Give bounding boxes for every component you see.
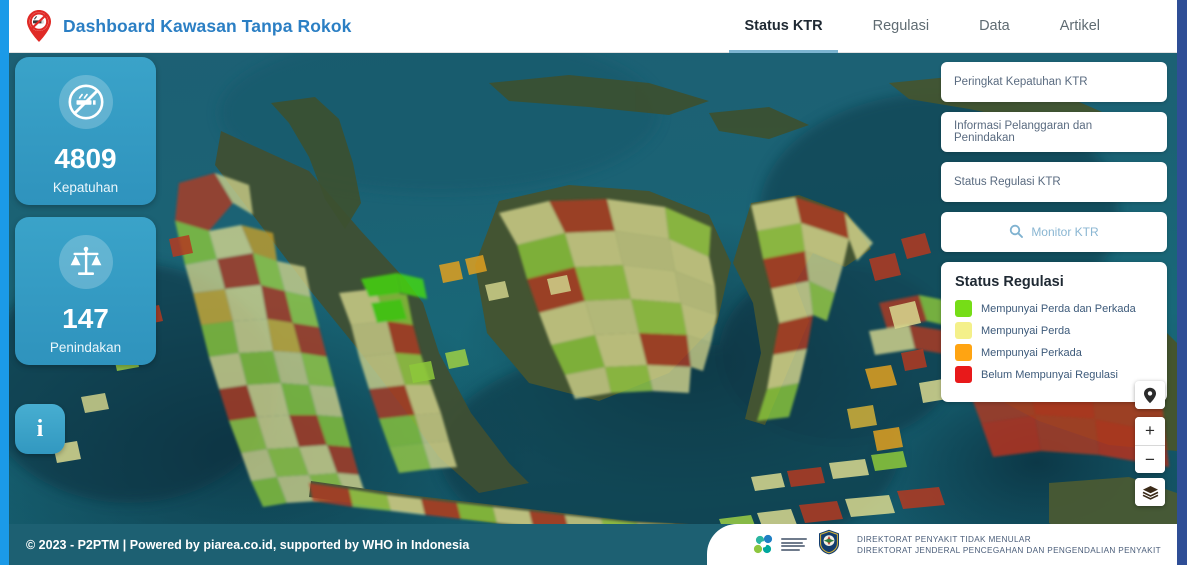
stat-card-kepatuhan[interactable]: 4809 Kepatuhan xyxy=(15,57,156,205)
zoom-in-button[interactable]: + xyxy=(1135,417,1165,445)
no-smoking-icon xyxy=(59,75,113,129)
legend-label: Mempunyai Perda xyxy=(981,325,1070,337)
zoom-box: + − xyxy=(1135,417,1165,473)
layers-icon xyxy=(1142,485,1159,500)
legend-item-perkada: Mempunyai Perkada xyxy=(955,344,1153,361)
garuda-emblem-logo xyxy=(818,529,840,560)
legend-item-perda: Mempunyai Perda xyxy=(955,322,1153,339)
locate-button[interactable] xyxy=(1135,381,1165,409)
main-nav: Status KTR Regulasi Data Artikel xyxy=(719,0,1177,53)
footer-copyright: © 2023 - P2PTM | Powered by piarea.co.id… xyxy=(9,538,469,552)
location-pin-icon xyxy=(1143,387,1157,404)
stat-card-penindakan[interactable]: 147 Penindakan xyxy=(15,217,156,365)
legend-item-belum-regulasi: Belum Mempunyai Regulasi xyxy=(955,366,1153,383)
app-footer: © 2023 - P2PTM | Powered by piarea.co.id… xyxy=(9,524,1177,565)
tab-data[interactable]: Data xyxy=(954,0,1035,53)
legend-item-perda-dan-perkada: Mempunyai Perda dan Perkada xyxy=(955,300,1153,317)
kemenkes-wordmark xyxy=(781,538,807,551)
panel-button-label: Status Regulasi KTR xyxy=(954,176,1061,188)
legend-swatch-yellow xyxy=(955,322,972,339)
panel-button-peringkat-kepatuhan[interactable]: Peringkat Kepatuhan KTR xyxy=(941,62,1167,102)
tab-status-ktr[interactable]: Status KTR xyxy=(719,0,847,53)
info-button[interactable]: i xyxy=(15,404,65,454)
stat-cards: 4809 Kepatuhan 147 Penindakan xyxy=(15,57,156,377)
tab-artikel[interactable]: Artikel xyxy=(1035,0,1125,53)
legend-status-regulasi: Status Regulasi Mempunyai Perda dan Perk… xyxy=(941,262,1167,402)
layers-box xyxy=(1135,478,1165,506)
no-smoking-map-pin-icon xyxy=(25,9,53,43)
panel-button-status-regulasi[interactable]: Status Regulasi KTR xyxy=(941,162,1167,202)
legend-swatch-orange xyxy=(955,344,972,361)
stat-value-penindakan: 147 xyxy=(62,305,109,333)
app-header: Dashboard Kawasan Tanpa Rokok Status KTR… xyxy=(9,0,1177,53)
info-icon: i xyxy=(37,416,44,443)
stat-label-kepatuhan: Kepatuhan xyxy=(53,180,118,195)
map-control-layers-wrap xyxy=(1135,478,1165,506)
panel-button-label: Informasi Pelanggaran dan Penindakan xyxy=(954,120,1154,144)
locate-box xyxy=(1135,381,1165,409)
left-edge-accent xyxy=(0,0,9,565)
panel-button-label: Monitor KTR xyxy=(1031,225,1098,239)
footer-org-line-1: DIREKTORAT PENYAKIT TIDAK MENULAR xyxy=(857,535,1161,544)
layers-button[interactable] xyxy=(1135,478,1165,506)
stat-label-penindakan: Penindakan xyxy=(50,340,121,355)
scales-balance-icon xyxy=(59,235,113,289)
legend-swatch-red xyxy=(955,366,972,383)
zoom-out-button[interactable]: − xyxy=(1135,445,1165,473)
legend-label: Belum Mempunyai Regulasi xyxy=(981,369,1118,381)
panel-button-informasi-pelanggaran[interactable]: Informasi Pelanggaran dan Penindakan xyxy=(941,112,1167,152)
legend-label: Mempunyai Perkada xyxy=(981,347,1082,359)
footer-logos: DIREKTORAT PENYAKIT TIDAK MENULAR DIREKT… xyxy=(707,524,1177,565)
panel-button-monitor-ktr[interactable]: Monitor KTR xyxy=(941,212,1167,252)
legend-swatch-green xyxy=(955,300,972,317)
right-control-panel: Peringkat Kepatuhan KTR Informasi Pelang… xyxy=(941,62,1167,402)
stat-value-kepatuhan: 4809 xyxy=(54,145,116,173)
kemenkes-logo xyxy=(753,534,807,556)
panel-button-label: Peringkat Kepatuhan KTR xyxy=(954,76,1088,88)
map-control-zoom-wrap: + − xyxy=(1135,417,1165,473)
legend-label: Mempunyai Perda dan Perkada xyxy=(981,303,1136,315)
footer-org-line-2: DIREKTORAT JENDERAL PENCEGAHAN DAN PENGE… xyxy=(857,546,1161,555)
legend-title: Status Regulasi xyxy=(955,274,1153,290)
right-edge-accent xyxy=(1177,0,1187,565)
brand[interactable]: Dashboard Kawasan Tanpa Rokok xyxy=(9,9,351,43)
tab-regulasi[interactable]: Regulasi xyxy=(848,0,954,53)
footer-org-name: DIREKTORAT PENYAKIT TIDAK MENULAR DIREKT… xyxy=(857,535,1161,555)
map-control-locate-wrap xyxy=(1135,381,1165,409)
page-title: Dashboard Kawasan Tanpa Rokok xyxy=(63,16,351,37)
dashboard-app: Dashboard Kawasan Tanpa Rokok Status KTR… xyxy=(0,0,1187,565)
search-icon xyxy=(1009,224,1023,241)
